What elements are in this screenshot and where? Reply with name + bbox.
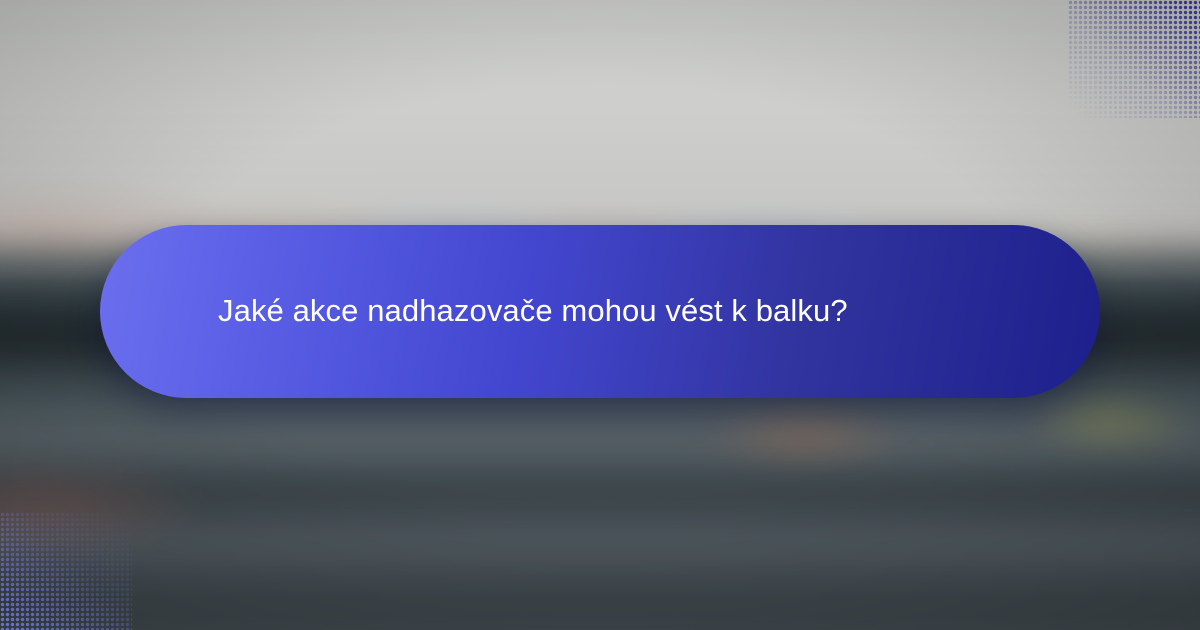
- dot-grid-bottom-left-icon: [0, 512, 132, 630]
- dot-grid-top-right-icon: [1068, 0, 1200, 118]
- page-title: Jaké akce nadhazovače mohou vést k balku…: [218, 292, 848, 331]
- headline-pill: Jaké akce nadhazovače mohou vést k balku…: [100, 225, 1100, 398]
- share-card: Jaké akce nadhazovače mohou vést k balku…: [0, 0, 1200, 630]
